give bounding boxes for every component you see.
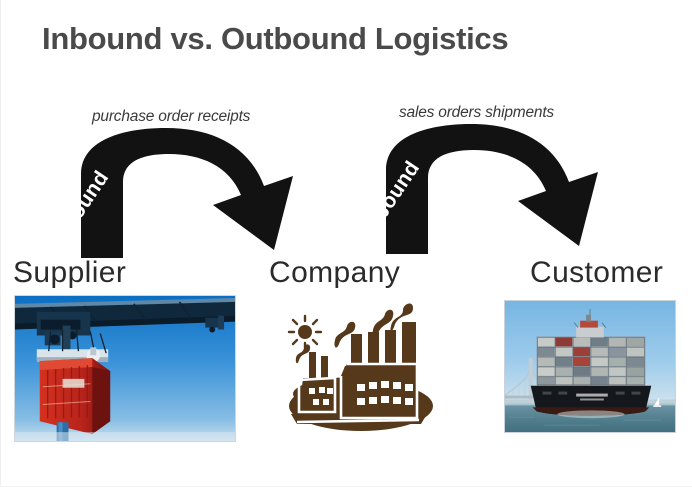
inbound-flow-arrow-group: purchase order receipts inbound [61,108,321,258]
inbound-arrow-caption: purchase order receipts [92,108,250,126]
supplier-image [14,295,236,442]
outbound-flow-arrow-group: sales orders shipments outbound [366,104,626,254]
node-label-customer: Customer [530,256,663,290]
container-ship-photo-icon [505,301,675,432]
company-image [269,302,443,438]
node-label-company: Company [269,256,400,290]
outbound-arrow-caption: sales orders shipments [399,104,554,122]
node-label-supplier: Supplier [13,256,126,290]
customer-image [504,300,676,433]
container-crane-photo-icon [15,296,235,441]
factory-clipart-icon [269,302,443,438]
page-title: Inbound vs. Outbound Logistics [42,21,508,57]
slide-canvas: Inbound vs. Outbound Logistics purchase … [0,0,692,487]
